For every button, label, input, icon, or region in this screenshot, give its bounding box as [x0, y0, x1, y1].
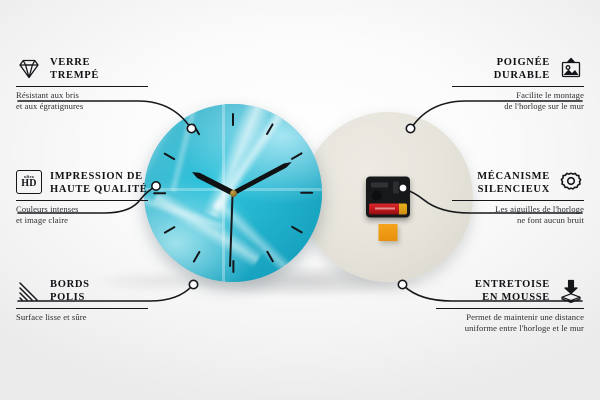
feature-title: VERRE TREMPÉ	[50, 56, 99, 82]
divider	[16, 308, 148, 309]
feature-header: BORDS POLIS	[16, 278, 148, 304]
divider	[16, 200, 148, 201]
feature-header: ENTRETOISE EN MOUSSE	[436, 278, 584, 304]
feature-verre-trempe: VERRE TREMPÉ Résistant aux bris et aux é…	[16, 56, 148, 112]
connector-node-mecanisme	[399, 184, 407, 192]
divider	[16, 86, 148, 87]
feature-subtitle: Permet de maintenir une distance uniform…	[436, 312, 584, 333]
connector-node-impression	[152, 182, 160, 190]
feature-title: MÉCANISME SILENCIEUX	[477, 170, 550, 196]
feature-subtitle: Couleurs intenses et image claire	[16, 204, 148, 225]
feature-header: MÉCANISME SILENCIEUX	[452, 170, 584, 196]
polished-edges-icon	[16, 278, 42, 304]
connector-node-poignee	[406, 124, 414, 132]
gear-icon	[558, 170, 584, 196]
feature-poignee-durable: POIGNÉE DURABLE Facilite le montage de l…	[452, 56, 584, 112]
feature-bords-polis: BORDS POLIS Surface lisse et sûre	[16, 278, 148, 323]
connector-node-verre	[187, 124, 195, 132]
feature-subtitle: Surface lisse et sûre	[16, 312, 148, 323]
feature-title: ENTRETOISE EN MOUSSE	[475, 278, 550, 304]
feature-mecanisme-silencieux: MÉCANISME SILENCIEUX Les aiguilles de l'…	[452, 170, 584, 226]
ultra-hd-icon: ultra HD	[16, 170, 42, 196]
picture-hanger-icon	[558, 56, 584, 82]
feature-subtitle: Facilite le montage de l'horloge sur le …	[452, 90, 584, 111]
divider	[436, 308, 584, 309]
feature-title: POIGNÉE DURABLE	[494, 56, 550, 82]
feature-impression-haute-qualite: ultra HD IMPRESSION DE HAUTE QUALITÉ Cou…	[16, 170, 148, 226]
connector-node-bords	[189, 280, 197, 288]
feature-header: VERRE TREMPÉ	[16, 56, 148, 82]
foam-spacer-icon	[558, 278, 584, 304]
feature-subtitle: Résistant aux bris et aux égratignures	[16, 90, 148, 111]
feature-title: BORDS POLIS	[50, 278, 90, 304]
feature-header: ultra HD IMPRESSION DE HAUTE QUALITÉ	[16, 170, 148, 196]
infographic-stage: VERRE TREMPÉ Résistant aux bris et aux é…	[0, 0, 600, 400]
divider	[452, 86, 584, 87]
ultra-hd-icon-main-label: HD	[21, 179, 36, 189]
diamond-icon	[16, 56, 42, 82]
feature-header: POIGNÉE DURABLE	[452, 56, 584, 82]
divider	[452, 200, 584, 201]
connector-node-entretoise	[398, 280, 406, 288]
feature-entretoise-en-mousse: ENTRETOISE EN MOUSSE Permet de maintenir…	[436, 278, 584, 334]
feature-title: IMPRESSION DE HAUTE QUALITÉ	[50, 170, 148, 196]
feature-subtitle: Les aiguilles de l'horloge ne font aucun…	[452, 204, 584, 225]
